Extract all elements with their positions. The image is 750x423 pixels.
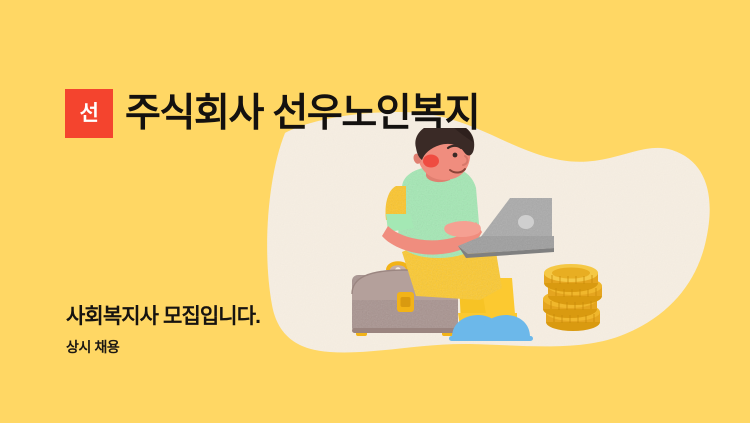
company-logo-badge: 선 — [65, 89, 113, 138]
recruitment-headline: 사회복지사 모집입니다. — [66, 305, 260, 329]
coin-stack-icon — [543, 264, 602, 331]
logo-badge-label: 선 — [80, 103, 99, 124]
recruitment-banner: 선 주식회사 선우노인복지 — [0, 0, 750, 423]
illustration-person-working-on-laptop — [330, 128, 620, 358]
recruitment-subtext: 상시 채용 — [66, 339, 260, 356]
recruitment-copy: 사회복지사 모집입니다. 상시 채용 — [66, 305, 260, 356]
